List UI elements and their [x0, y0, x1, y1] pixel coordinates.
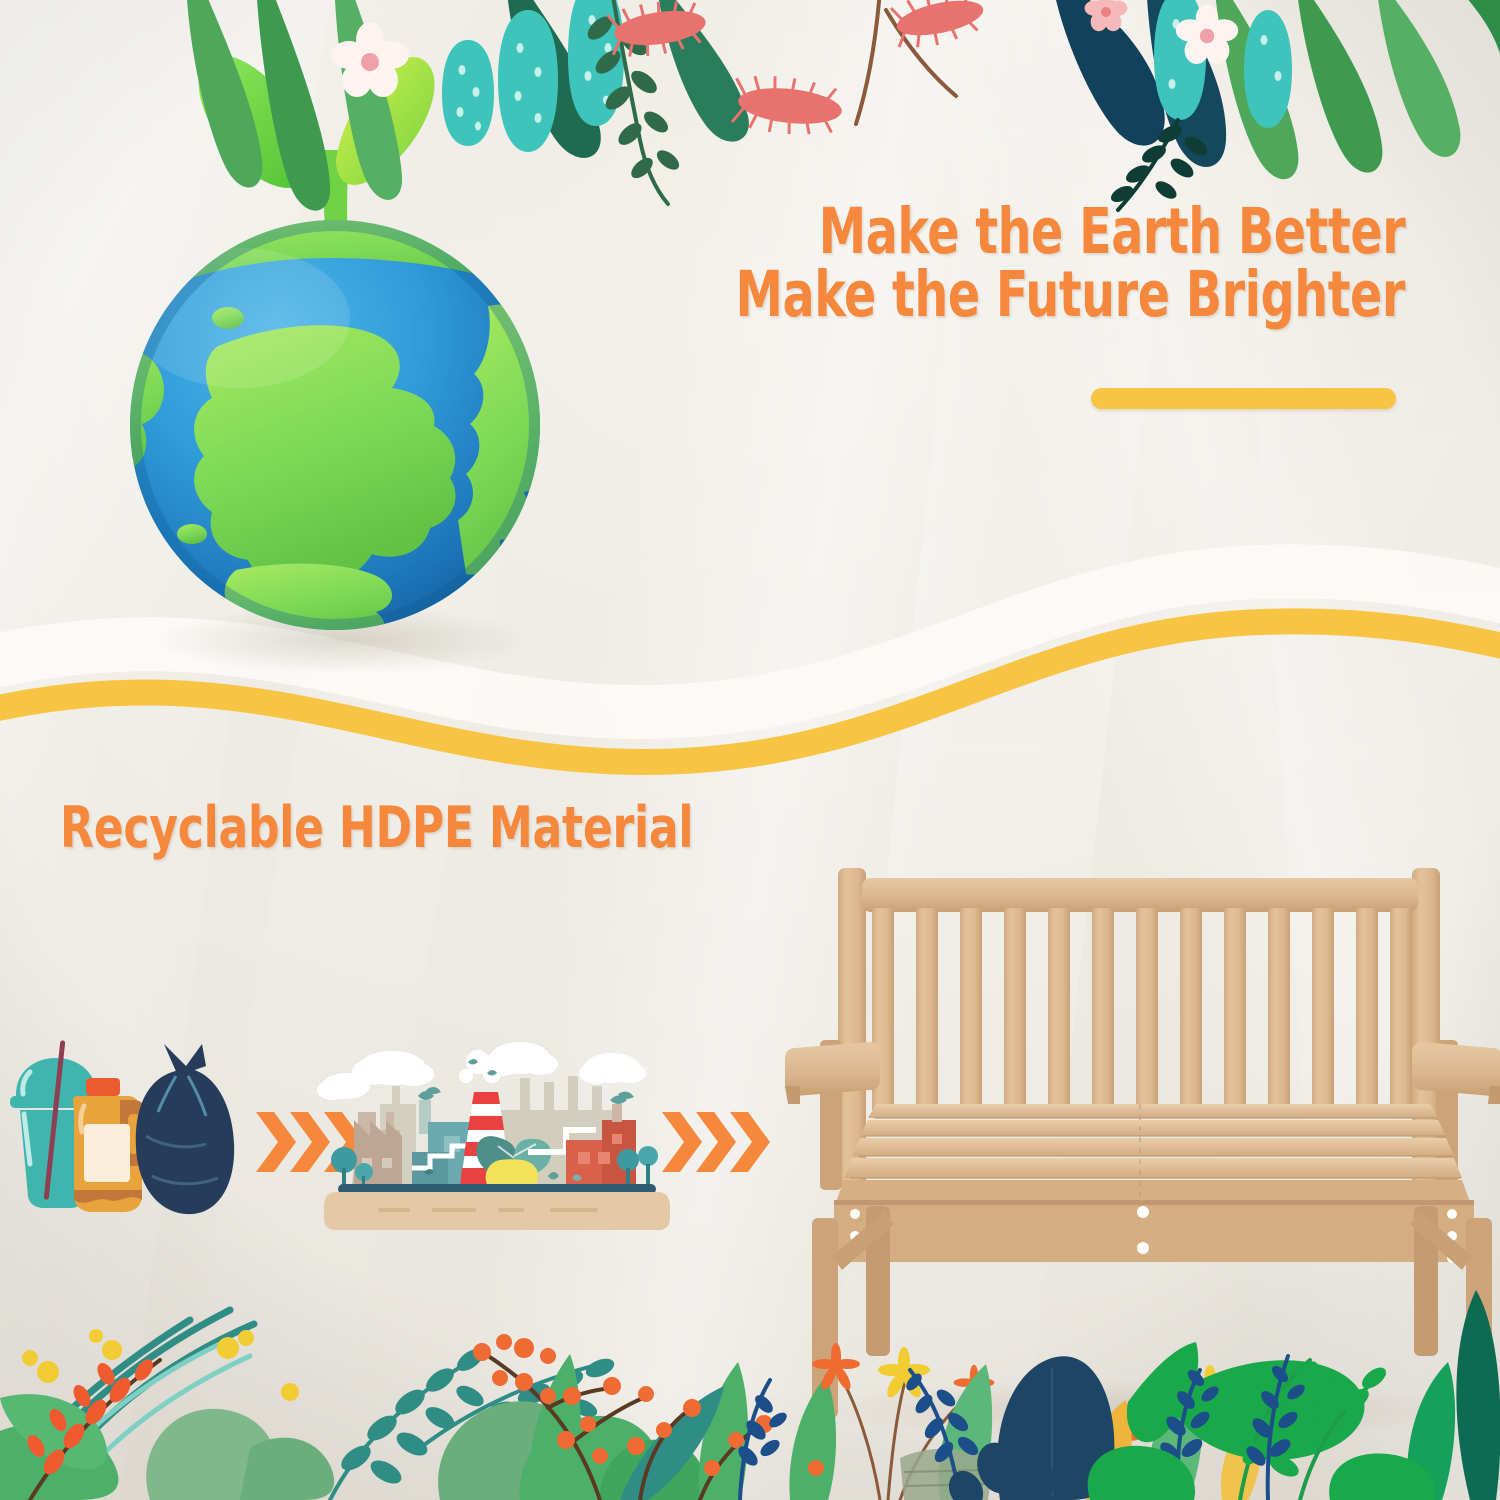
factory-fruit	[486, 1159, 539, 1186]
white-flower-1	[331, 22, 409, 97]
factory-teal-block	[428, 1122, 490, 1186]
bench-leg-back-left	[866, 1206, 890, 1356]
orange-berries	[473, 1334, 824, 1476]
bench-post-right	[1412, 868, 1440, 1188]
headline-line-1: Make the Earth Better	[818, 200, 1405, 264]
yellow-flower	[878, 1347, 1236, 1418]
bench-arm-support-left	[820, 1040, 842, 1190]
bench-arm-support-right	[1436, 1040, 1458, 1190]
globe-ocean	[130, 220, 540, 630]
bench-top-rail	[862, 878, 1418, 912]
top-leaves	[186, 0, 1500, 211]
bottom-left-cluster	[0, 1310, 617, 1500]
globe-continents	[78, 212, 578, 664]
trash-bag-icon	[136, 1044, 234, 1214]
bottom-right-cluster	[735, 1290, 1500, 1500]
coral-blooms	[607, 0, 989, 139]
navy-fern-sprigs	[735, 1356, 1307, 1500]
factory-silhouette	[500, 1076, 616, 1184]
factory-ground	[324, 1192, 670, 1230]
chevron-arrows-2	[662, 1112, 770, 1172]
eco-factory-illustration	[317, 1042, 670, 1230]
bench-leg-front-right	[1466, 1218, 1492, 1418]
bench-post-left	[838, 868, 866, 1188]
factory-ground-top	[338, 1184, 656, 1194]
headline-line-2: Make the Future Brighter	[736, 263, 1405, 327]
bench-leg-back-right	[1414, 1206, 1438, 1356]
orange-flower	[812, 1343, 1142, 1461]
factory-red-block	[566, 1140, 622, 1186]
headline-underline-bar	[1091, 388, 1396, 409]
sprout-stem	[322, 150, 348, 252]
white-flower-2	[1176, 4, 1238, 64]
pink-flower-small	[1085, 0, 1128, 31]
olive-sprig	[612, 0, 668, 204]
bench-brace-left	[832, 1212, 894, 1270]
sprout-leaf-left	[199, 55, 322, 188]
bench-seat-slats	[836, 1104, 1470, 1202]
wave-yellow-line	[0, 621, 1500, 762]
bench-screws	[817, 1206, 1473, 1379]
bench-leg-front-left	[812, 1218, 838, 1418]
factory-leaf-left	[476, 1136, 516, 1175]
plastic-jug-icon	[73, 1078, 148, 1212]
factory-clouds	[317, 1042, 646, 1100]
wave-white-highlight	[0, 571, 1500, 712]
headline-line-3: Recyclable HDPE Material	[60, 795, 693, 861]
coral-bloom-branch	[856, 0, 956, 124]
sprout-leaf-right	[336, 57, 434, 185]
factory-leaf-right	[514, 1139, 551, 1174]
bench-brace-right	[1410, 1212, 1472, 1270]
chevron-arrows-1	[256, 1112, 364, 1172]
poster-canvas: Make the Earth Better Make the Future Br…	[0, 0, 1500, 1500]
bench-front-apron	[834, 1200, 1474, 1262]
plastic-cup-icon	[10, 1040, 102, 1208]
factory-beige	[352, 1112, 400, 1186]
bench-armrest-right	[1412, 1042, 1500, 1096]
factory-chimney	[460, 1092, 512, 1186]
waste-items	[10, 1040, 234, 1214]
bench-armrest-left	[785, 1042, 880, 1096]
bench-back-slats	[872, 908, 1412, 1113]
bottom-mid-cluster	[438, 1334, 1261, 1500]
